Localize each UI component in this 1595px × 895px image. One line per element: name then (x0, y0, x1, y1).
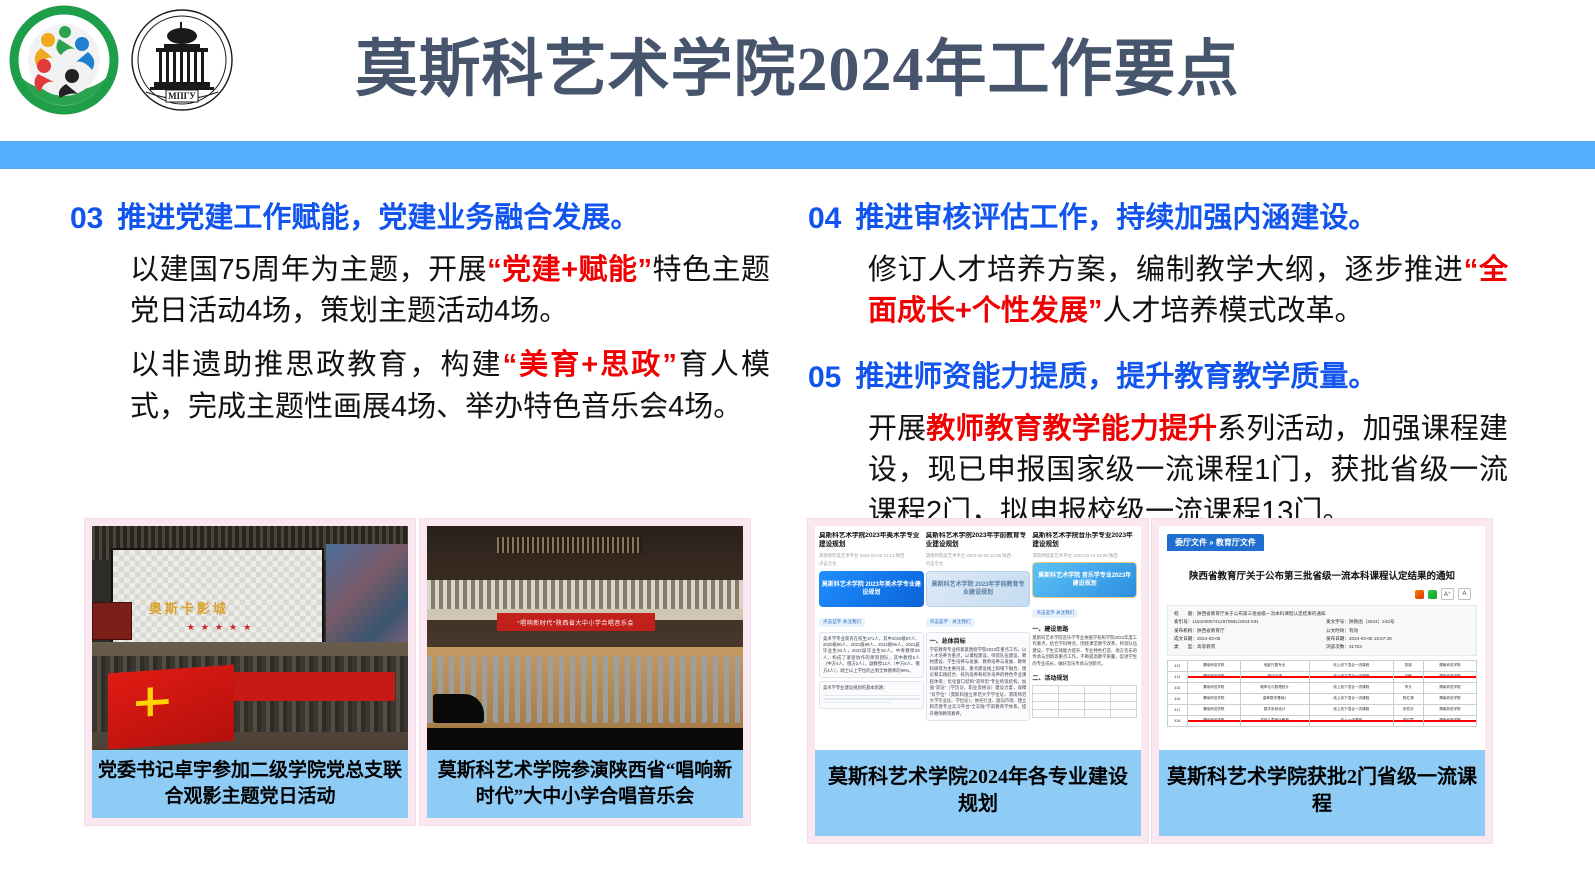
meta-row: 索引号：11610000741297059L/2024-031 (1174, 618, 1318, 625)
cell: 线上线下混合一流课程 (1309, 671, 1393, 682)
work-item-04-header: 04 推进审核评估工作，持续加强内涵建设。 (808, 200, 1508, 238)
cell: 线上线下混合一流课程 (1309, 682, 1393, 693)
meta-value: 高等教育 (1197, 644, 1215, 649)
meta-row: 发文字号：陕教函〔2024〕243号 (1326, 618, 1470, 625)
meta-row: 浏览次数：31703 (1326, 643, 1470, 650)
print-icon[interactable] (1415, 590, 1424, 599)
article-title: 莫斯科艺术学院2023年学前教育专业建设规划 (926, 532, 1031, 550)
evidence-card-party-day[interactable]: 奥斯卡影城 ★★★★★ 党委书记卓宇参加二级学院党总支联合观影主题党日活动 (85, 519, 415, 825)
meta-row: 标 题：陕西省教育厅关于公布第三批省级一流本科课程认定结果的通知 (1174, 610, 1470, 617)
meta-value: 有效 (1349, 628, 1358, 633)
cell: 线上线下混合一流课程 (1309, 704, 1393, 715)
article-body-box-2: 美术学专业建设规划的基本思路： (819, 681, 924, 709)
star-decor-icon: ★★★★★ (187, 622, 257, 633)
table-row: 416 渭南师范学院 高等数学基础2 线上线下混合一流课程 陈红清 渭南师范学院 (1168, 693, 1477, 704)
cell: 渭南师范学院 (1187, 693, 1240, 704)
cell: 高等数学基础2 (1240, 693, 1309, 704)
work-item-04-number: 04 (808, 200, 841, 238)
follow-us-pill[interactable]: 点击蓝字 · 关注我们 (926, 618, 975, 627)
cell: 渭南师范学院 (1187, 715, 1240, 726)
cell: 418 (1168, 715, 1188, 726)
cell: 413 (1168, 660, 1188, 671)
work-item-03-paragraph-1: 以建国75周年为主题，开展“党建+赋能”特色主题党日活动4场，策划主题活动4场。 (130, 250, 770, 334)
article-body-box: 美术学专业现有在校生371人，其中2019级87人、2020级90人、2021级… (819, 632, 924, 679)
stage-banner: “唱响新时代”陕西省大中小学合唱音乐会 (497, 613, 655, 631)
article-title: 莫斯科艺术学院2023年美术学专业建设规划 (819, 532, 924, 550)
meta-value: 2024-03-05 16:57:39 (1349, 636, 1392, 641)
font-larger-button[interactable]: A⁺ (1441, 588, 1454, 600)
evidence-card-row: 奥斯卡影城 ★★★★★ 党委书记卓宇参加二级学院党总支联合观影主题党日活动 (0, 519, 1595, 829)
cell: 417 (1168, 704, 1188, 715)
grand-piano (433, 694, 484, 723)
article-section-2: 二、活动规划 (1032, 673, 1137, 718)
cell: 陈红清 (1393, 693, 1423, 704)
meta-row: 公文时效：有效 (1326, 627, 1470, 634)
content-column-right: 04 推进审核评估工作，持续加强内涵建设。 修订人才培养方案，编制教学大纲，逐步… (808, 200, 1508, 538)
work-item-04-heading: 推进审核评估工作，持续加强内涵建设。 (855, 200, 1377, 236)
ticket-booth (92, 602, 132, 640)
work-item-03-paragraph-2: 以非遗助推思政教育，构建“美育+思政”育人模式，完成主题性画展4场、举办特色音乐… (130, 345, 770, 429)
cell: 数字系统设计 (1240, 704, 1309, 715)
breadcrumb[interactable]: 委厅文件 » 教育厅文件 (1167, 534, 1264, 551)
work-item-04: 04 推进审核评估工作，持续加强内涵建设。 修订人才培养方案，编制教学大纲，逐步… (808, 200, 1508, 333)
article-body-text: 学前教育专业将紧紧围绕学院2023年重点工作，以人才培养为重点，以课程建设、师资… (930, 647, 1027, 718)
article-submeta: 点击全文 (819, 561, 924, 568)
cell: 张晓 (1393, 660, 1423, 671)
document-toolbar: A⁺ A (1173, 588, 1471, 600)
concert-hall-photo: “唱响新时代”陕西省大中小学合唱音乐会 (427, 526, 743, 750)
cinema-lobby-photo: 奥斯卡影城 ★★★★★ (92, 526, 408, 750)
cell: 渭南师范学院 (1423, 660, 1476, 671)
cell: 周红霞 (1393, 715, 1423, 726)
work-item-05-number: 05 (808, 359, 841, 397)
paragraph-pre: 修订人才培养方案，编制教学大纲，逐步推进 (868, 254, 1464, 286)
evidence-card-provincial-courses[interactable]: 委厅文件 » 教育厅文件 陕西省教育厅关于公布第三批省级一流本科课程认定结果的通… (1152, 519, 1492, 843)
meta-row: 类 型：高等教育 (1174, 643, 1318, 650)
cell: 渭南师范学院 (1423, 715, 1476, 726)
work-item-03-number: 03 (70, 200, 103, 238)
evidence-card-caption: 莫斯科艺术学院2024年各专业建设规划 (815, 750, 1141, 836)
paragraph-post: 人才培养模式改革。 (1102, 295, 1363, 327)
article-meta: 渭南师院美艺术平台 2023-02-06 22:06 陕西 (926, 553, 1031, 560)
cell: 电影只要专业 (1240, 660, 1309, 671)
cell: 415 (1168, 682, 1188, 693)
table-row: 415 渭南师范学院 概率论与数理统计 线上线下混合一流课程 李凡 渭南师范学院 (1168, 682, 1477, 693)
work-item-05-paragraph-1: 开展教师教育教学能力提升系列活动，加强课程建设，现已申报国家级一流课程1门，获批… (868, 409, 1508, 534)
table-row: 417 渭南师范学院 数字系统设计 线上线下混合一流课程 张哲宇 渭南师范学院 (1168, 704, 1477, 715)
video-wall (326, 544, 408, 656)
cell: 概率论与数理统计 (1240, 682, 1309, 693)
follow-us-pill[interactable]: 点击蓝字 关注我们 (819, 618, 865, 627)
refresh-icon[interactable] (1428, 590, 1437, 599)
work-item-05-heading: 推进师资能力提质，提升教育教学质量。 (855, 359, 1377, 395)
course-results-table: 413 渭南师范学院 电影只要专业 线上线下混合一流课程 张晓 渭南师范学院 4… (1167, 660, 1477, 727)
work-item-04-paragraph-1: 修订人才培养方案，编制教学大纲，逐步推进“全面成长+个性发展”人才培养模式改革。 (868, 250, 1508, 334)
article-meta: 渭南师院美艺术平台 2023-02-14 22:09 陕西 (1032, 553, 1137, 560)
wechat-article-1[interactable]: 莫斯科艺术学院2023年美术学专业建设规划 渭南师院美艺术平台 2023-02-… (819, 532, 924, 744)
meta-value: 11610000741297059L/2024-031 (1192, 619, 1258, 624)
meta-value: 2024-03-05 (1197, 636, 1221, 641)
table-row-highlighted-2: 418 渭南师范学院 学前儿童音乐教育 线上一流课程 周红霞 渭南师范学院 (1168, 715, 1477, 726)
work-item-05-header: 05 推进师资能力提质，提升教育教学质量。 (808, 359, 1508, 397)
meta-row: 成文日期：2024-03-05 (1174, 635, 1318, 642)
cell: 渭南师范学院 (1423, 682, 1476, 693)
follow-us-pill[interactable]: 点击蓝字 关注我们 (1032, 609, 1078, 618)
cell: 线上线下混合一流课程 (1309, 693, 1393, 704)
content-column-left: 03 推进党建工作赋能，党建业务融合发展。 以建国75周年为主题，开展“党建+赋… (70, 200, 770, 433)
article-section-1: 一、建设思路 莫斯科艺术学院音乐学专业依据学校和学院2023年度工作重点，结合学… (1032, 624, 1137, 667)
article-submeta: 点击全文 (926, 561, 1031, 568)
cell: 渭南师范学院 (1187, 704, 1240, 715)
acoustic-grille (497, 537, 642, 553)
meta-value: 陕教函〔2024〕243号 (1349, 619, 1394, 624)
article-title: 莫斯科艺术学院音乐学专业2023年建设规划 (1032, 532, 1137, 550)
table-row: 413 渭南师范学院 电影只要专业 线上线下混合一流课程 张晓 渭南师范学院 (1168, 660, 1477, 671)
cell: 张哲宇 (1393, 704, 1423, 715)
balcony-audience (427, 580, 743, 609)
article-meta: 渭南师院美艺术平台 2023-02-08 21:13 陕西 (819, 553, 924, 560)
page-title: 莫斯科艺术学院2024年工作要点 (0, 18, 1595, 108)
cell: 渭南师范学院 (1423, 671, 1476, 682)
article-cover-banner: 莫斯科艺术学院 2023年美术学专业建设规划 (819, 571, 924, 607)
stage-banner-text: “唱响新时代”陕西省大中小学合唱音乐会 (497, 613, 655, 631)
wechat-article-2[interactable]: 莫斯科艺术学院2023年学前教育专业建设规划 渭南师院美艺术平台 2023-02… (926, 532, 1031, 744)
evidence-card-caption: 莫斯科艺术学院参演陕西省“唱响新时代”大中小学合唱音乐会 (427, 750, 743, 818)
article-body-text: 美术学专业现有在校生371人，其中2019级87人、2020级90人、2021级… (823, 636, 920, 675)
meta-label: 发文字号： (1326, 619, 1349, 624)
article-body-subtitle: 美术学专业建设规划的基本思路： (823, 685, 920, 691)
meta-label: 标 题： (1174, 611, 1197, 616)
slide-header: МПГУ 莫斯科艺术学院2024年工作要点 (0, 0, 1595, 141)
cell: 414 (1168, 671, 1188, 682)
article-section-box: 一、总体目标 学前教育专业将紧紧围绕学院2023年重点工作，以人才培养为重点，以… (926, 632, 1031, 722)
meta-label: 发布日期： (1326, 636, 1349, 641)
article-cover-banner: 莫斯科艺术学院 2023年学前教育专业建设规划 (926, 571, 1031, 607)
meta-label: 公文时效： (1326, 628, 1349, 633)
evidence-card-caption: 党委书记卓宇参加二级学院党总支联合观影主题党日活动 (92, 750, 408, 818)
cell: 赵敏 (1393, 671, 1423, 682)
text-placeholder-lines (823, 695, 920, 704)
paragraph-pre: 以非遗助推思政教育，构建 (130, 349, 503, 381)
cell: 学前儿童音乐教育 (1240, 715, 1309, 726)
work-item-03-heading: 推进党建工作赋能，党建业务融合发展。 (117, 200, 639, 236)
meta-value: 陕西省教育厅关于公布第三批省级一流本科课程认定结果的通知 (1197, 611, 1326, 616)
cell: 渭南师范学院 (1423, 693, 1476, 704)
party-flag-icon (108, 665, 234, 750)
paragraph-pre: 以建国75周年为主题，开展 (130, 254, 487, 286)
meta-row: 发布日期：2024-03-05 16:57:39 (1326, 635, 1470, 642)
article-section-heading: 一、建设思路 (1032, 624, 1137, 633)
header-divider-band (0, 141, 1595, 169)
stage-apron-shadow (427, 728, 743, 750)
event-red-banner (231, 672, 395, 701)
meta-label: 类 型： (1174, 644, 1197, 649)
document-metadata: 标 题：陕西省教育厅关于公布第三批省级一流本科课程认定结果的通知 索引号：116… (1167, 605, 1477, 656)
cell: 渭南师范学院 (1187, 682, 1240, 693)
font-smaller-button[interactable]: A (1458, 588, 1471, 600)
document-title: 陕西省教育厅关于公布第三批省级一流本科课程认定结果的通知 (1171, 568, 1473, 582)
paragraph-highlight: “美育+思政” (503, 349, 677, 381)
meta-label: 成文日期： (1174, 636, 1197, 641)
evidence-card-chorus-concert[interactable]: “唱响新时代”陕西省大中小学合唱音乐会 莫斯科艺术学院参演陕西省“唱响新时代”大… (420, 519, 750, 825)
work-item-03: 03 推进党建工作赋能，党建业务融合发展。 以建国75周年为主题，开展“党建+赋… (70, 200, 770, 429)
paragraph-highlight: 教师教育教学能力提升 (926, 413, 1217, 445)
table-row-highlighted: 414 渭南师范学院 现代汉语 线上线下混合一流课程 赵敏 渭南师范学院 (1168, 671, 1477, 682)
meta-row: 发布机构：陕西省教育厅 (1174, 627, 1318, 634)
article-body-text: 莫斯科艺术学院音乐学专业依据学校和学院2023年度工作重点，结合学科特点，围绕课… (1032, 635, 1137, 667)
cell: 渭南师范学院 (1187, 660, 1240, 671)
meta-label: 浏览次数： (1326, 644, 1349, 649)
wechat-article-3[interactable]: 莫斯科艺术学院音乐学专业2023年建设规划 渭南师院美艺术平台 2023-02-… (1032, 532, 1137, 744)
cell: 李凡 (1393, 682, 1423, 693)
cell: 线上线下混合一流课程 (1309, 660, 1393, 671)
meta-value: 陕西省教育厅 (1197, 628, 1225, 633)
evidence-card-caption: 莫斯科艺术学院获批2门省级一流课程 (1159, 750, 1485, 836)
government-notice-screenshot: 委厅文件 » 教育厅文件 陕西省教育厅关于公布第三批省级一流本科课程认定结果的通… (1159, 526, 1485, 750)
paragraph-pre: 开展 (868, 413, 926, 445)
cell: 416 (1168, 693, 1188, 704)
article-section-heading: 一、总体目标 (930, 636, 1027, 645)
work-item-05: 05 推进师资能力提质，提升教育教学质量。 开展教师教育教学能力提升系列活动，加… (808, 359, 1508, 534)
paragraph-highlight: “党建+赋能” (487, 254, 652, 286)
article-section-heading: 二、活动规划 (1032, 673, 1137, 682)
article-cover-banner: 莫斯科艺术学院 音乐学专业2023年 建设规划 (1032, 562, 1137, 598)
article-plan-table (1032, 685, 1137, 718)
cinema-sign-text: 奥斯卡影城 (149, 598, 229, 617)
evidence-card-major-plans[interactable]: 莫斯科艺术学院2023年美术学专业建设规划 渭南师院美艺术平台 2023-02-… (808, 519, 1148, 843)
slide-root: МПГУ 莫斯科艺术学院2024年工作要点 03 推进党建工作赋能，党建业务融合… (0, 0, 1595, 895)
meta-label: 发布机构： (1174, 628, 1197, 633)
cell: 线上一流课程 (1309, 715, 1393, 726)
wechat-articles-screenshot: 莫斯科艺术学院2023年美术学专业建设规划 渭南师院美艺术平台 2023-02-… (815, 526, 1141, 750)
work-item-03-header: 03 推进党建工作赋能，党建业务融合发展。 (70, 200, 770, 238)
cell: 渭南师范学院 (1187, 671, 1240, 682)
meta-value: 31703 (1349, 644, 1362, 649)
cell: 现代汉语 (1240, 671, 1309, 682)
meta-label: 索引号： (1174, 619, 1192, 624)
cell: 渭南师范学院 (1423, 704, 1476, 715)
